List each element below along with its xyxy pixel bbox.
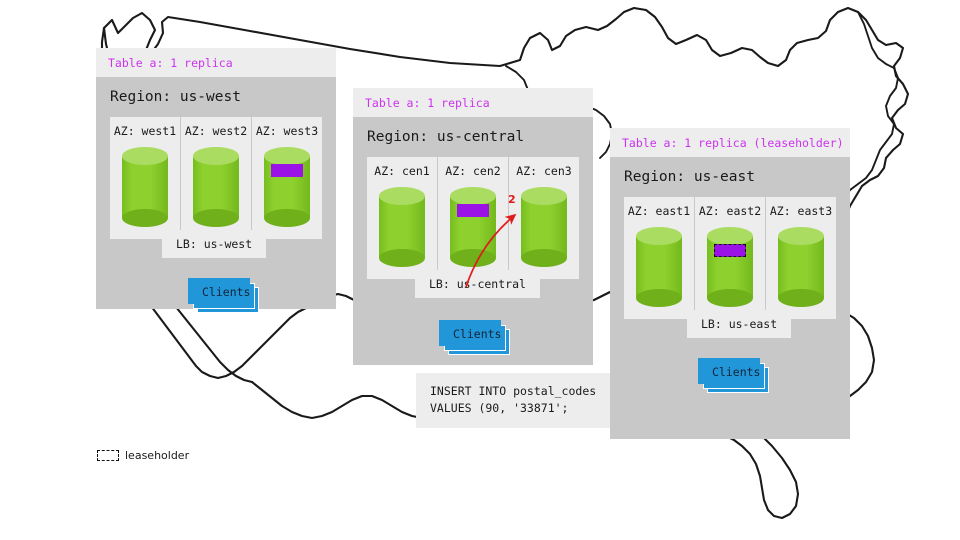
load-balancer-us-east[interactable]: LB: us-east xyxy=(687,310,791,338)
cylinder-top xyxy=(636,227,682,245)
routing-arrow-label-2: 2 xyxy=(508,193,516,206)
cylinder-top xyxy=(193,147,239,165)
node-cylinder-west1[interactable] xyxy=(122,147,168,227)
region-title-us-west: Region: us-west xyxy=(96,77,336,117)
node-cylinder-east3[interactable] xyxy=(778,227,824,307)
diagram-canvas: Table a: 1 replica Region: us-west AZ: w… xyxy=(0,0,960,540)
az-label-cen1: AZ: cen1 xyxy=(374,164,429,178)
region-panel-us-east: Table a: 1 replica (leaseholder) Region:… xyxy=(610,128,850,439)
region-body-us-west: Region: us-west AZ: west1 AZ: west2 xyxy=(96,77,336,309)
cylinder-top xyxy=(379,187,425,205)
az-cell-cen2[interactable]: AZ: cen2 xyxy=(437,157,508,279)
cylinder-top xyxy=(521,187,567,205)
table-replica-label-us-east: Table a: 1 replica (leaseholder) xyxy=(610,128,850,157)
replica-block-west3[interactable] xyxy=(271,164,303,177)
cylinder-bottom xyxy=(122,209,168,227)
az-strip-us-west: AZ: west1 AZ: west2 AZ xyxy=(110,117,322,239)
leaseholder-dashed-swatch-icon xyxy=(97,450,119,461)
cylinder-top xyxy=(122,147,168,165)
clients-button-us-east[interactable]: Clients xyxy=(698,358,760,384)
az-cell-cen3[interactable]: AZ: cen3 xyxy=(508,157,579,279)
cylinder-top xyxy=(707,227,753,245)
clients-button-us-central[interactable]: Clients xyxy=(439,320,501,346)
node-cylinder-cen1[interactable] xyxy=(379,187,425,267)
az-cell-cen1[interactable]: AZ: cen1 xyxy=(367,157,437,279)
cylinder-bottom xyxy=(264,209,310,227)
az-strip-us-central: AZ: cen1 AZ: cen2 xyxy=(367,157,579,279)
az-label-east1: AZ: east1 xyxy=(628,204,690,218)
az-cell-west1[interactable]: AZ: west1 xyxy=(110,117,180,239)
region-title-us-central: Region: us-central xyxy=(353,117,593,157)
az-label-west3: AZ: west3 xyxy=(256,124,318,138)
load-balancer-us-central[interactable]: LB: us-central xyxy=(415,270,540,298)
region-panel-us-west: Table a: 1 replica Region: us-west AZ: w… xyxy=(96,48,336,309)
az-label-cen3: AZ: cen3 xyxy=(516,164,571,178)
az-cell-east1[interactable]: AZ: east1 xyxy=(624,197,694,319)
region-panel-us-central: Table a: 1 replica Region: us-central AZ… xyxy=(353,88,593,365)
region-title-us-east: Region: us-east xyxy=(610,157,850,197)
node-cylinder-west3[interactable] xyxy=(264,147,310,227)
node-cylinder-cen3[interactable] xyxy=(521,187,567,267)
az-cell-west2[interactable]: AZ: west2 xyxy=(180,117,251,239)
az-cell-east2[interactable]: AZ: east2 xyxy=(694,197,765,319)
cylinder-top xyxy=(778,227,824,245)
cylinder-bottom xyxy=(707,289,753,307)
legend-label: leaseholder xyxy=(125,449,189,462)
cylinder-bottom xyxy=(521,249,567,267)
load-balancer-us-west[interactable]: LB: us-west xyxy=(162,230,266,258)
node-cylinder-cen2[interactable] xyxy=(450,187,496,267)
node-cylinder-east1[interactable] xyxy=(636,227,682,307)
table-replica-label-us-west: Table a: 1 replica xyxy=(96,48,336,77)
az-cell-west3[interactable]: AZ: west3 xyxy=(251,117,322,239)
legend-leaseholder: leaseholder xyxy=(97,449,189,462)
node-cylinder-west2[interactable] xyxy=(193,147,239,227)
cylinder-top xyxy=(264,147,310,165)
az-strip-us-east: AZ: east1 AZ: east2 xyxy=(624,197,836,319)
az-label-east2: AZ: east2 xyxy=(699,204,761,218)
az-cell-east3[interactable]: AZ: east3 xyxy=(765,197,836,319)
clients-stack-us-central[interactable]: Clients xyxy=(439,320,501,346)
cylinder-bottom xyxy=(450,249,496,267)
sql-statement-block: INSERT INTO postal_codes VALUES (90, '33… xyxy=(416,373,621,428)
cylinder-top xyxy=(450,187,496,205)
region-body-us-east: Region: us-east AZ: east1 AZ: east2 xyxy=(610,157,850,439)
cylinder-bottom xyxy=(778,289,824,307)
az-label-east3: AZ: east3 xyxy=(770,204,832,218)
cylinder-bottom xyxy=(636,289,682,307)
replica-block-cen2[interactable] xyxy=(457,204,489,217)
table-replica-label-us-central: Table a: 1 replica xyxy=(353,88,593,117)
az-label-west1: AZ: west1 xyxy=(114,124,176,138)
cylinder-bottom xyxy=(379,249,425,267)
replica-block-east2-leaseholder[interactable] xyxy=(714,244,746,257)
clients-button-us-west[interactable]: Clients xyxy=(188,278,250,304)
az-label-cen2: AZ: cen2 xyxy=(445,164,500,178)
clients-stack-us-west[interactable]: Clients xyxy=(188,278,250,304)
clients-stack-us-east[interactable]: Clients xyxy=(698,358,760,384)
node-cylinder-east2[interactable] xyxy=(707,227,753,307)
cylinder-bottom xyxy=(193,209,239,227)
az-label-west2: AZ: west2 xyxy=(185,124,247,138)
